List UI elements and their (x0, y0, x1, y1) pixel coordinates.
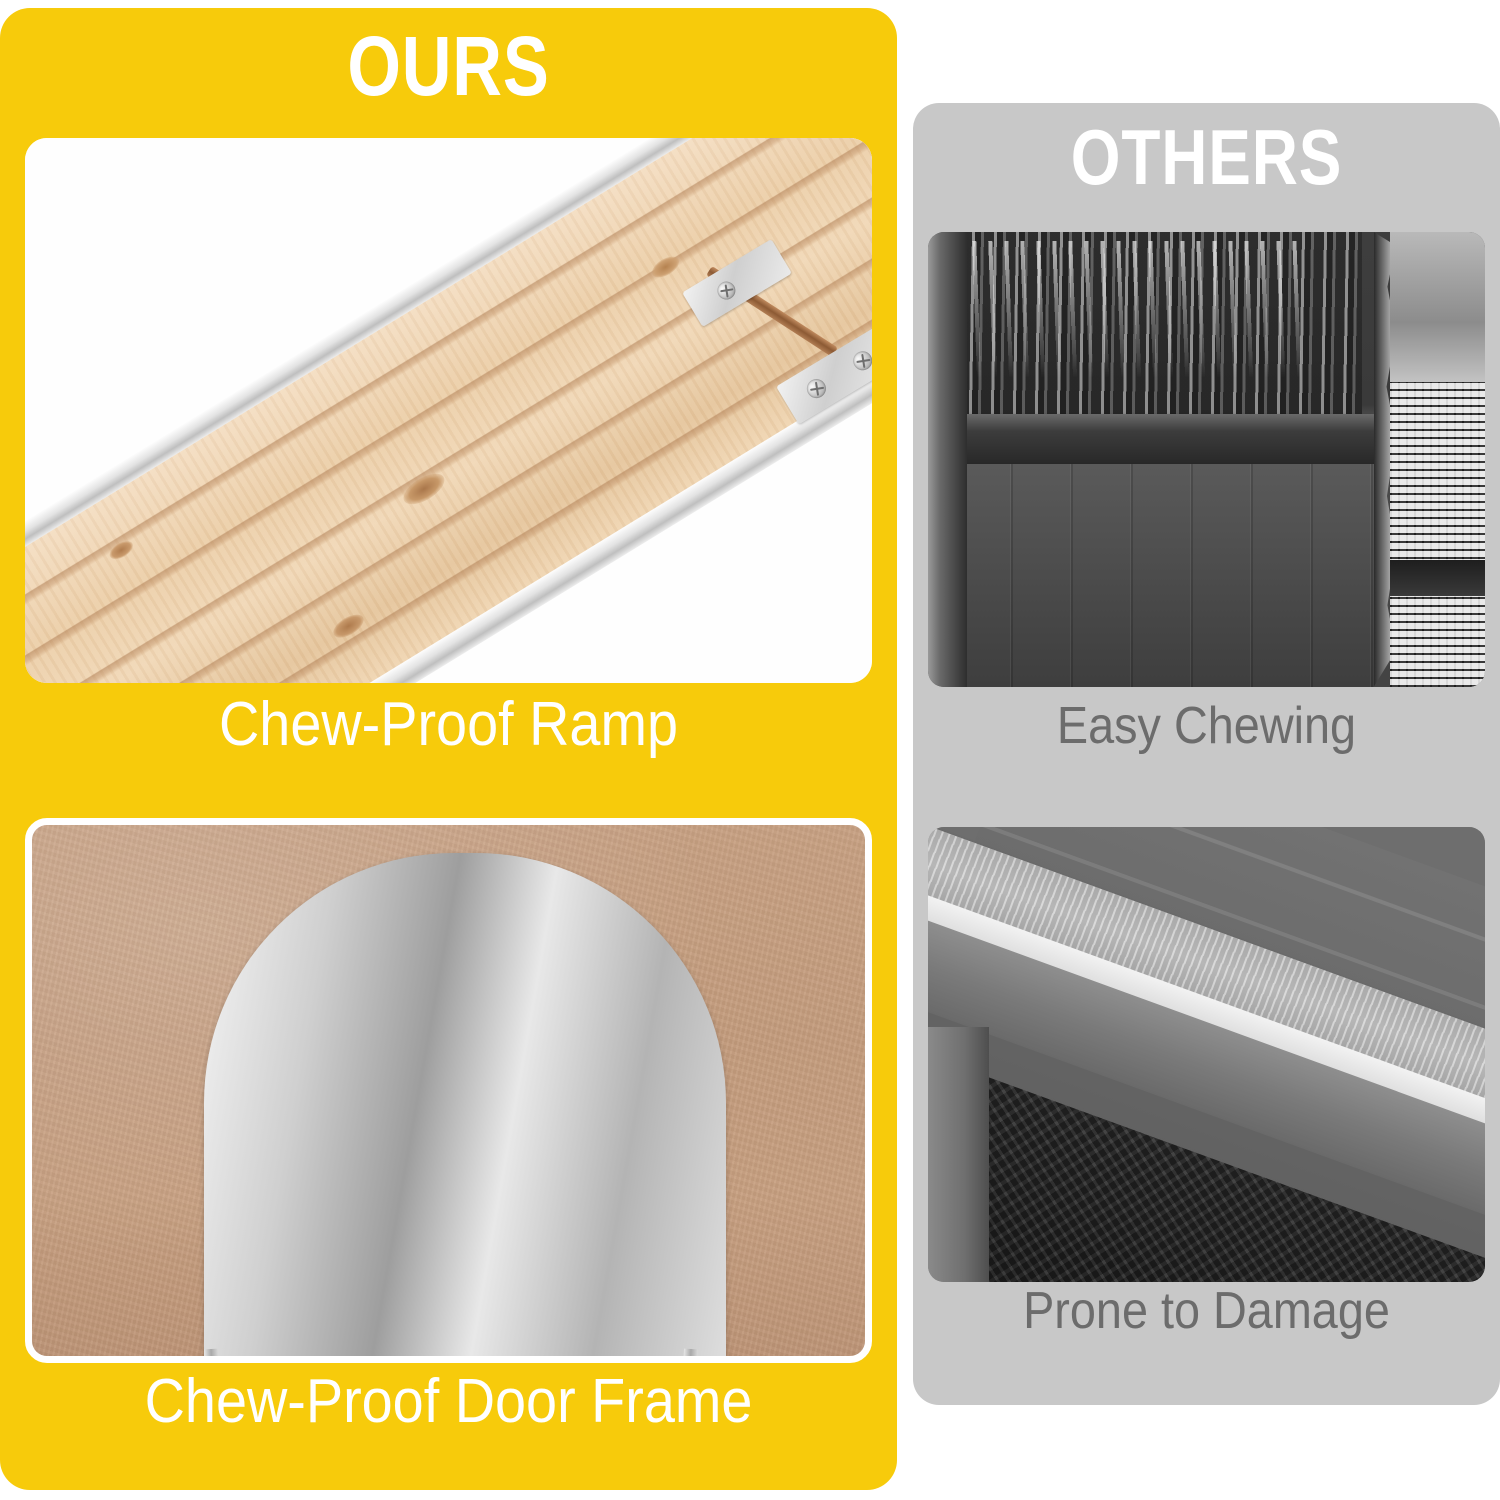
prone-to-damage-photo (928, 827, 1485, 1282)
chew-proof-door-frame-photo (25, 818, 872, 1363)
ramp-rail-top (25, 138, 872, 590)
others-heading: OTHERS (966, 118, 1447, 196)
wood-post-left (928, 232, 967, 687)
prone-to-damage-caption: Prone to Damage (942, 1285, 1470, 1337)
ramp-photo-scene (25, 138, 872, 683)
chew-proof-ramp-caption: Chew-Proof Ramp (45, 694, 852, 756)
ramp-end-cap-left (25, 570, 125, 683)
easy-chewing-caption: Easy Chewing (942, 700, 1470, 752)
screw-icon (803, 376, 829, 402)
gnaw-marks (961, 241, 1306, 378)
cage-bar (1390, 560, 1485, 596)
screw-icon (714, 278, 739, 303)
wood-post (928, 1027, 989, 1282)
door-photo-scene (32, 825, 865, 1356)
screw-icon (850, 348, 872, 374)
wood-knot (330, 610, 368, 642)
wood-knot (399, 468, 450, 511)
metal-trim-leg (680, 1349, 698, 1363)
metal-door-trim (204, 853, 726, 1363)
easy-chewing-photo (928, 232, 1485, 687)
wire-mesh (1390, 382, 1485, 687)
wood-knot (649, 252, 683, 281)
wood-panel-lower (950, 464, 1373, 687)
wood-knot (107, 537, 136, 563)
ramp-rail-bottom (109, 226, 872, 683)
cage-top (1390, 232, 1485, 382)
chew-proof-door-frame-caption: Chew-Proof Door Frame (45, 1371, 852, 1433)
ramp-plank (25, 138, 872, 683)
wood-rail (950, 414, 1373, 464)
chewing-photo-scene (928, 232, 1485, 687)
ours-heading: OURS (81, 24, 817, 108)
comparison-infographic: OURS Chew- (0, 0, 1500, 1500)
chew-proof-ramp-photo (25, 138, 872, 683)
damage-photo-scene (928, 827, 1485, 1282)
